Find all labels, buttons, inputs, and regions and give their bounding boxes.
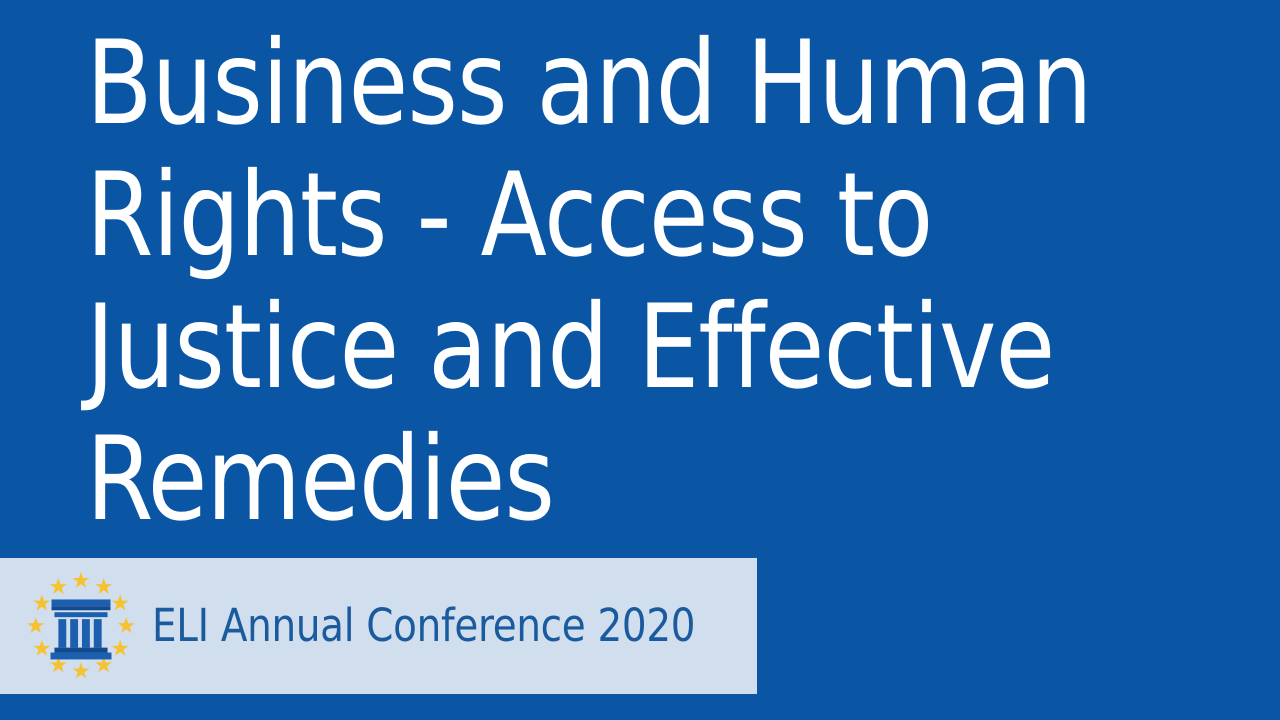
temple-icon [51,599,112,659]
conference-banner: ELI Annual Conference 2020 [0,558,757,694]
title-line-3: Justice and Effective [86,282,1063,414]
title-line-1: Business and Human [86,18,1063,150]
star-ring [27,572,134,678]
title-line-2: Rights - Access to [86,150,1063,282]
title-line-4: Remedies [86,414,1063,546]
eli-logo-icon [22,567,140,685]
presentation-slide: Business and Human Rights - Access to Ju… [0,0,1280,720]
conference-banner-label: ELI Annual Conference 2020 [152,601,695,651]
slide-title: Business and Human Rights - Access to Ju… [86,18,1136,546]
